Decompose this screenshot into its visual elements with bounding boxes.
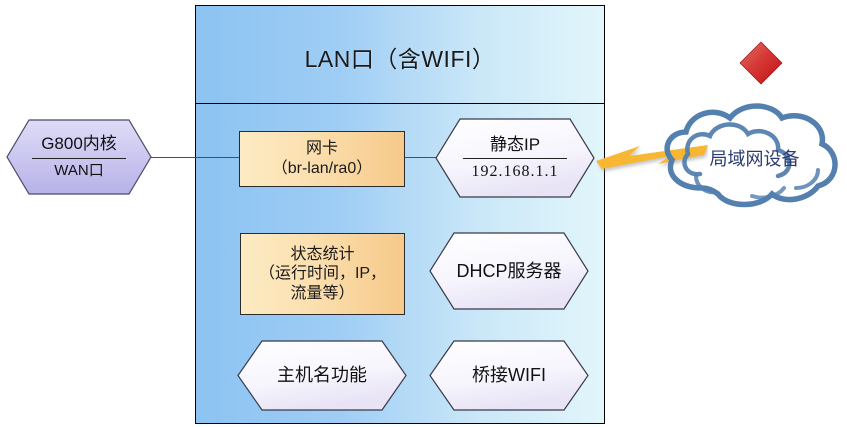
red-diamond-icon [739, 41, 783, 85]
status-stats-box[interactable]: 状态统计 （运行时间，IP， 流量等） [240, 233, 405, 315]
nic-box-line1: 网卡 [306, 139, 338, 159]
status-stats-line1: 状态统计 [290, 245, 354, 265]
cloud-icon [656, 96, 847, 220]
bridge-wifi-node[interactable]: 桥接WIFI [428, 339, 590, 412]
kernel-node[interactable]: G800内核 WAN口 [5, 118, 153, 196]
connector-kernel-to-nic [148, 157, 241, 158]
nic-box-line2: （br-lan/ra0） [272, 159, 372, 179]
dhcp-server-node[interactable]: DHCP服务器 [428, 231, 590, 311]
diagram-canvas: LAN口（含WIFI） [0, 0, 847, 427]
status-stats-line2: （运行时间，IP， [259, 264, 386, 284]
nic-box[interactable]: 网卡 （br-lan/ra0） [239, 131, 405, 187]
status-stats-line3: 流量等） [290, 284, 354, 304]
hostname-feature-node[interactable]: 主机名功能 [236, 339, 408, 412]
page-title: LAN口（含WIFI） [196, 40, 604, 74]
static-ip-node[interactable]: 静态IP 192.168.1.1 [434, 117, 596, 199]
